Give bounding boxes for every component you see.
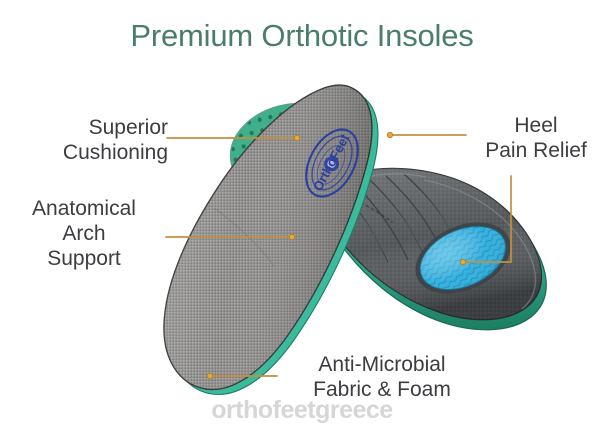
leader-dot-antimicrobial [207, 373, 212, 378]
callout-line: Superior [8, 115, 168, 140]
infographic-canvas: Premium Orthotic Insoles [0, 0, 604, 427]
callout-line: Anatomical [0, 196, 168, 221]
callout-line: Fabric & Foam [277, 377, 487, 402]
callout-line: Heel [470, 113, 602, 138]
callout-anatomical-arch-support: Anatomical Arch Support [0, 196, 168, 271]
callout-line: Arch [0, 221, 168, 246]
callout-line: Pain Relief [470, 138, 602, 163]
leader-dot-heel-gel [460, 259, 465, 264]
callout-superior-cushioning: Superior Cushioning [8, 115, 168, 165]
top-cover-insole: OrthoFeet [164, 85, 378, 394]
callout-line: Cushioning [8, 140, 168, 165]
leader-dot-cushioning [294, 135, 299, 140]
leader-dot-arch [289, 234, 294, 239]
callout-line: Support [0, 246, 168, 271]
callout-line: Anti-Microbial [277, 352, 487, 377]
callout-anti-microbial-fabric-foam: Anti-Microbial Fabric & Foam [277, 352, 487, 402]
leader-dot-heel-top [387, 132, 392, 137]
callout-heel-pain-relief: Heel Pain Relief [470, 113, 602, 163]
